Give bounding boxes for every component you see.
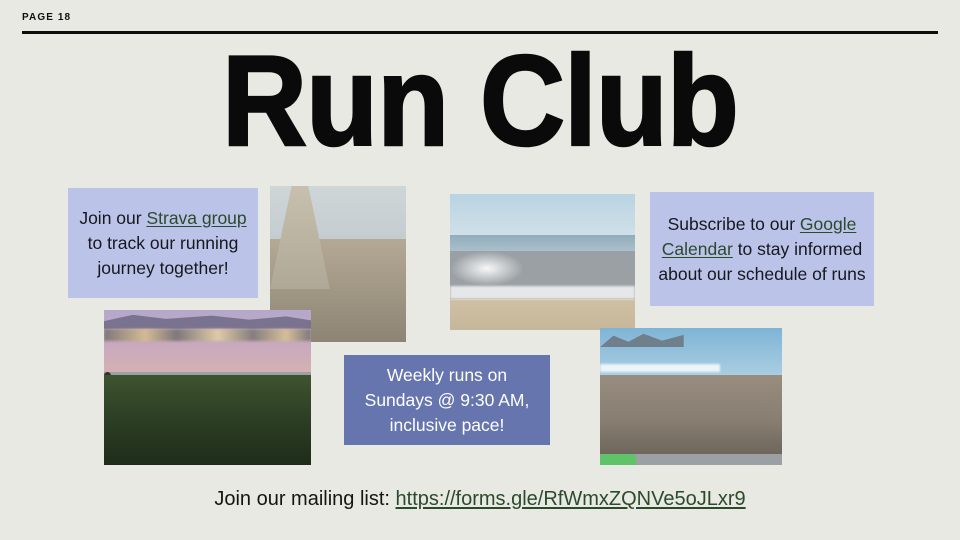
mailing-list-label: Join our mailing list:: [214, 488, 395, 510]
page-number-label: PAGE 18: [22, 12, 71, 23]
callout-calendar-lead: Subscribe to our: [668, 214, 800, 234]
photo-sky: [450, 194, 635, 235]
callout-google-calendar: Subscribe to our Google Calendar to stay…: [650, 192, 874, 306]
strava-group-link[interactable]: Strava group: [146, 208, 246, 228]
callout-strava: Join our Strava group to track our runni…: [68, 188, 258, 298]
page-title: Run Club: [38, 38, 921, 166]
photo-person-1-body: [600, 454, 636, 465]
slide: PAGE 18 Run Club Join our Strava group t…: [0, 0, 960, 540]
callout-weekly-runs: Weekly runs on Sundays @ 9:30 AM, inclus…: [344, 355, 550, 445]
photo-dusk-field: [104, 310, 311, 465]
photo-sand: [600, 372, 782, 454]
callout-strava-lead: Join our: [79, 208, 146, 228]
photo-beach-group: [600, 328, 782, 465]
photo-grass: [104, 375, 311, 465]
photo-surf: [600, 364, 720, 372]
mailing-list-link[interactable]: https://forms.gle/RfWmxZQNVe5oJLxr9: [396, 488, 746, 510]
photo-sand: [450, 299, 635, 330]
photo-sun-glare: [450, 251, 524, 286]
photo-city-lights: [104, 329, 311, 341]
photo-coast-group: [450, 194, 635, 330]
callout-weekly-text: Weekly runs on Sundays @ 9:30 AM, inclus…: [344, 363, 550, 438]
callout-strava-tail: to track our running journey together!: [88, 233, 239, 278]
mailing-list-line: Join our mailing list: https://forms.gle…: [0, 488, 960, 511]
photo-surf: [450, 286, 635, 298]
